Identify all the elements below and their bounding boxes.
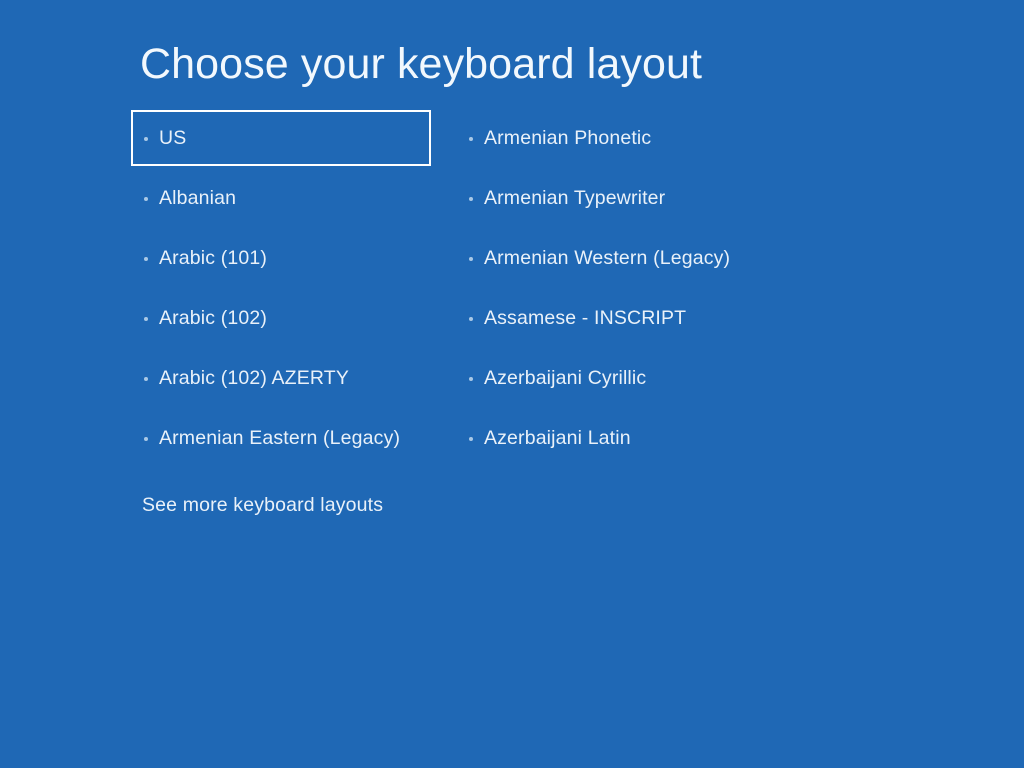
keyboard-layout-label: Arabic (102) AZERTY [159,365,349,391]
keyboard-layout-label: Assamese - INSCRIPT [484,305,686,331]
keyboard-layout-label: Armenian Eastern (Legacy) [159,425,400,451]
keyboard-layout-label: Arabic (101) [159,245,267,271]
bullet-icon [469,197,473,201]
keyboard-layout-label: Azerbaijani Cyrillic [484,365,646,391]
keyboard-layout-option[interactable]: Albanian [131,170,431,226]
keyboard-layout-option[interactable]: Assamese - INSCRIPT [456,290,776,346]
bullet-icon [144,257,148,261]
bullet-icon [469,317,473,321]
keyboard-layout-column-right: Armenian Phonetic Armenian Typewriter Ar… [456,110,776,470]
bullet-icon [469,437,473,441]
keyboard-layout-column-left: US Albanian Arabic (101) Arabic (102) Ar… [131,110,431,470]
keyboard-layout-label: Armenian Phonetic [484,125,651,151]
bullet-icon [144,437,148,441]
page-title: Choose your keyboard layout [140,38,702,90]
keyboard-layout-option[interactable]: Azerbaijani Latin [456,410,776,466]
keyboard-layout-screen: Choose your keyboard layout US Albanian … [0,0,1024,768]
keyboard-layout-option[interactable]: Armenian Phonetic [456,110,776,166]
bullet-icon [144,377,148,381]
keyboard-layout-label: Albanian [159,185,236,211]
keyboard-layout-label: Armenian Typewriter [484,185,665,211]
keyboard-layout-option[interactable]: Armenian Typewriter [456,170,776,226]
keyboard-layout-option[interactable]: Armenian Western (Legacy) [456,230,776,286]
keyboard-layout-option[interactable]: Armenian Eastern (Legacy) [131,410,431,466]
keyboard-layout-option[interactable]: Azerbaijani Cyrillic [456,350,776,406]
keyboard-layout-option[interactable]: Arabic (102) [131,290,431,346]
keyboard-layout-option[interactable]: Arabic (102) AZERTY [131,350,431,406]
keyboard-layout-label: Azerbaijani Latin [484,425,631,451]
keyboard-layout-label: Armenian Western (Legacy) [484,245,730,271]
keyboard-layout-option[interactable]: US [131,110,431,166]
keyboard-layout-label: Arabic (102) [159,305,267,331]
keyboard-layout-label: US [159,125,186,151]
bullet-icon [144,137,148,141]
bullet-icon [469,137,473,141]
bullet-icon [144,197,148,201]
keyboard-layout-option[interactable]: Arabic (101) [131,230,431,286]
bullet-icon [144,317,148,321]
see-more-keyboard-layouts-link[interactable]: See more keyboard layouts [142,492,383,518]
bullet-icon [469,377,473,381]
bullet-icon [469,257,473,261]
